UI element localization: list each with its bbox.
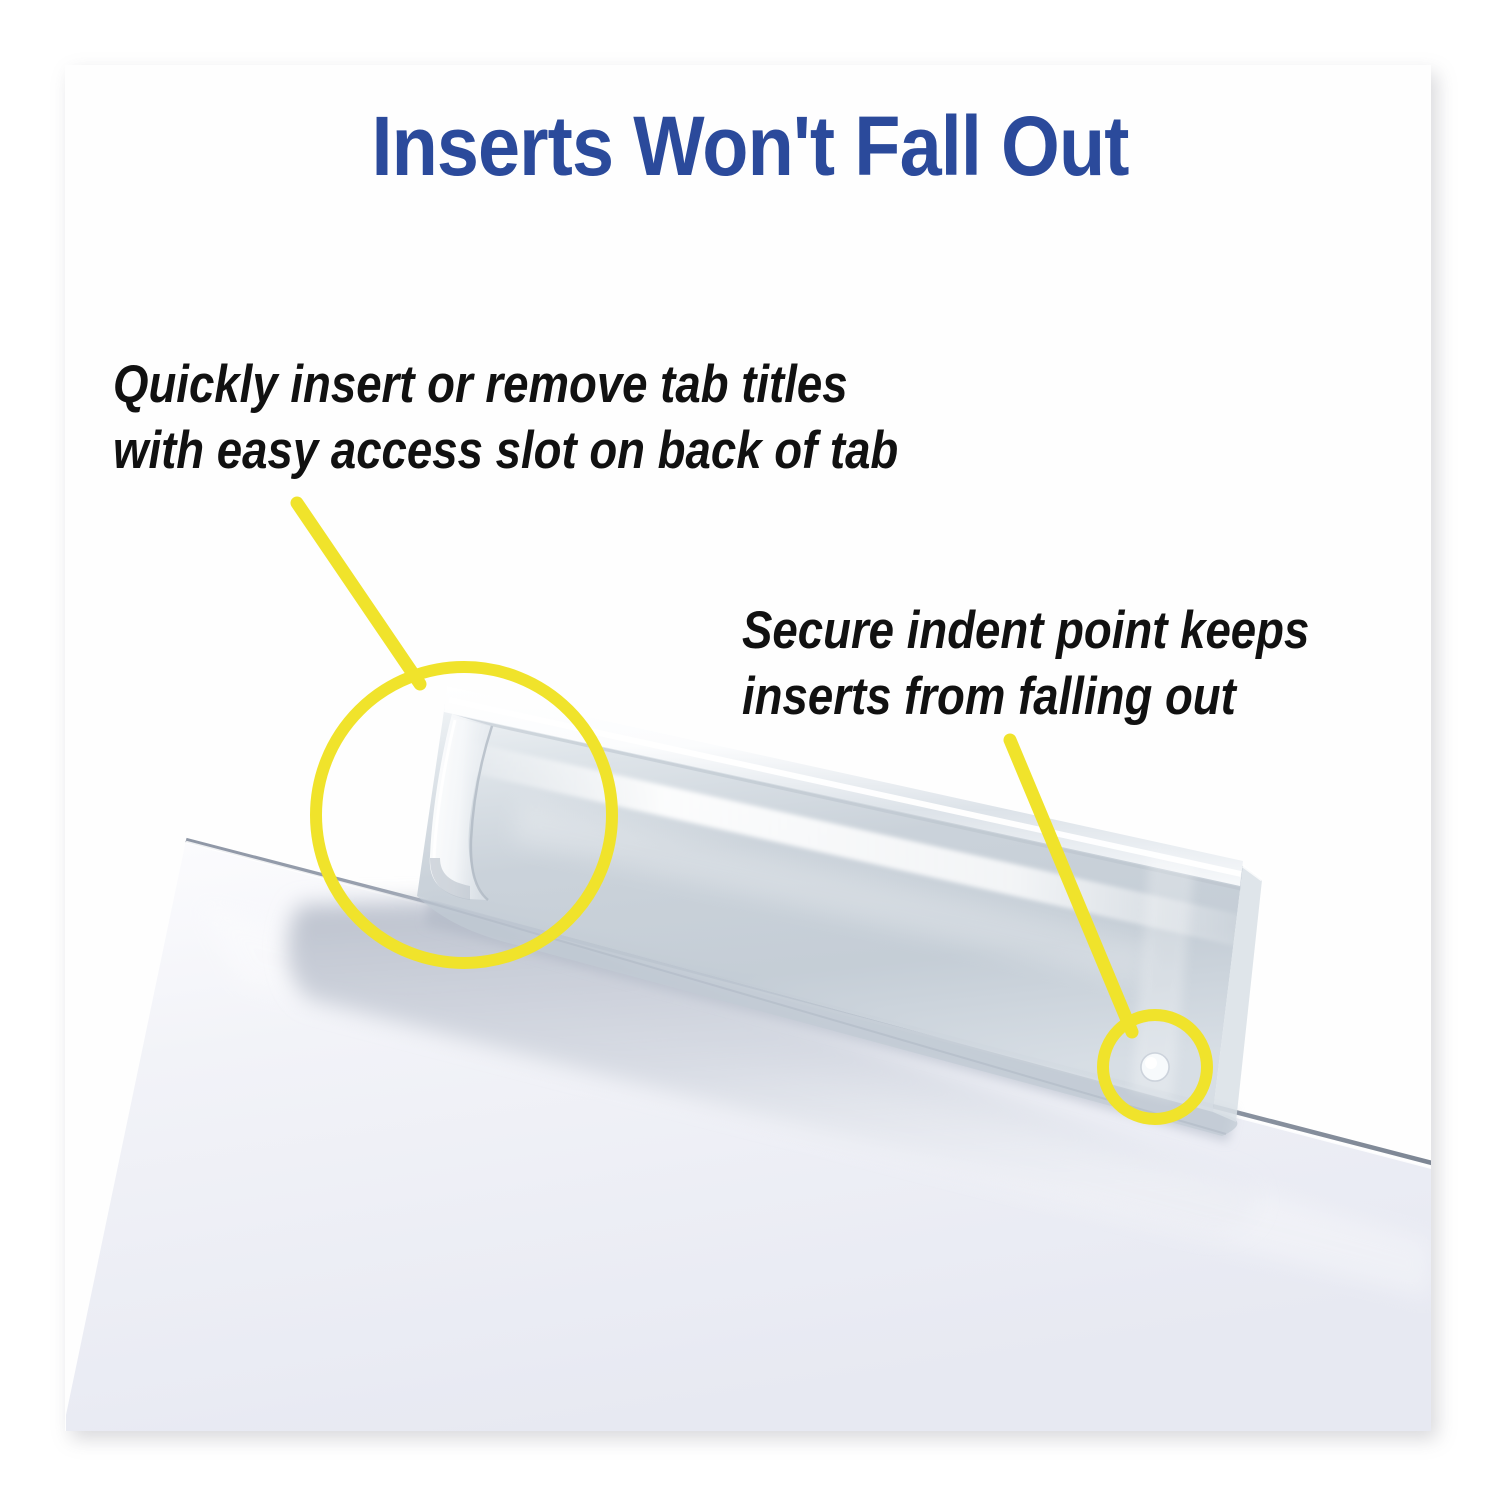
callout-text-access-slot: Quickly insert or remove tab titles with…: [113, 352, 898, 484]
page-title: Inserts Won't Fall Out: [75, 104, 1425, 188]
callout-text-indent-point: Secure indent point keeps inserts from f…: [742, 598, 1309, 730]
product-feature-image: Inserts Won't Fall Out Quickly insert or…: [0, 0, 1500, 1500]
photo-frame: [65, 65, 1431, 1431]
